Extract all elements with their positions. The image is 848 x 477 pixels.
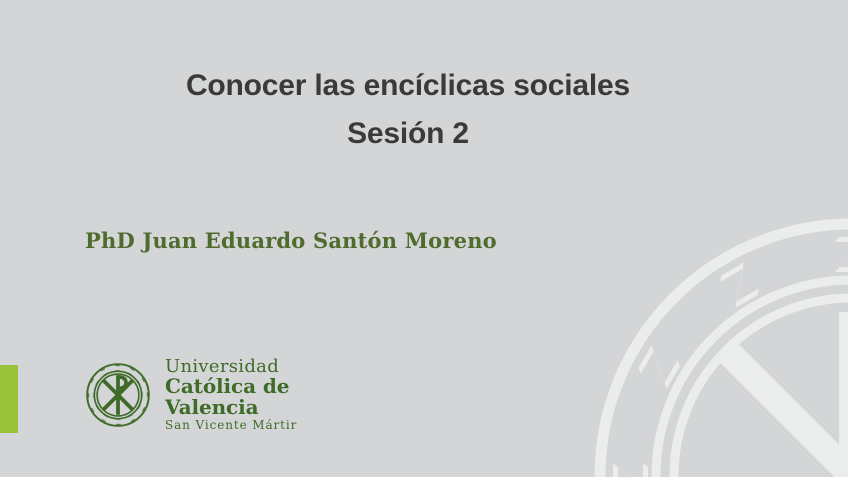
presentation-slide: Conocer las encíclicas sociales Sesión 2… [0,0,848,477]
ucv-logo-line-2: Católica de [165,376,297,396]
ucv-seal-watermark-icon [592,216,848,477]
ucv-logo: Universidad Católica de Valencia San Vic… [85,358,297,431]
ucv-logo-line-3: Valencia [165,397,297,417]
ucv-logo-text: Universidad Católica de Valencia San Vic… [165,358,297,431]
accent-bar [0,365,18,433]
title-line-1: Conocer las encíclicas sociales [0,62,816,110]
author-name: PhD Juan Eduardo Santón Moreno [85,228,497,253]
page-title: Conocer las encíclicas sociales Sesión 2 [0,62,816,158]
title-line-2: Sesión 2 [0,110,816,158]
ucv-logo-line-4: San Vicente Mártir [165,419,297,431]
ucv-seal-chi-rho-icon [85,362,151,428]
